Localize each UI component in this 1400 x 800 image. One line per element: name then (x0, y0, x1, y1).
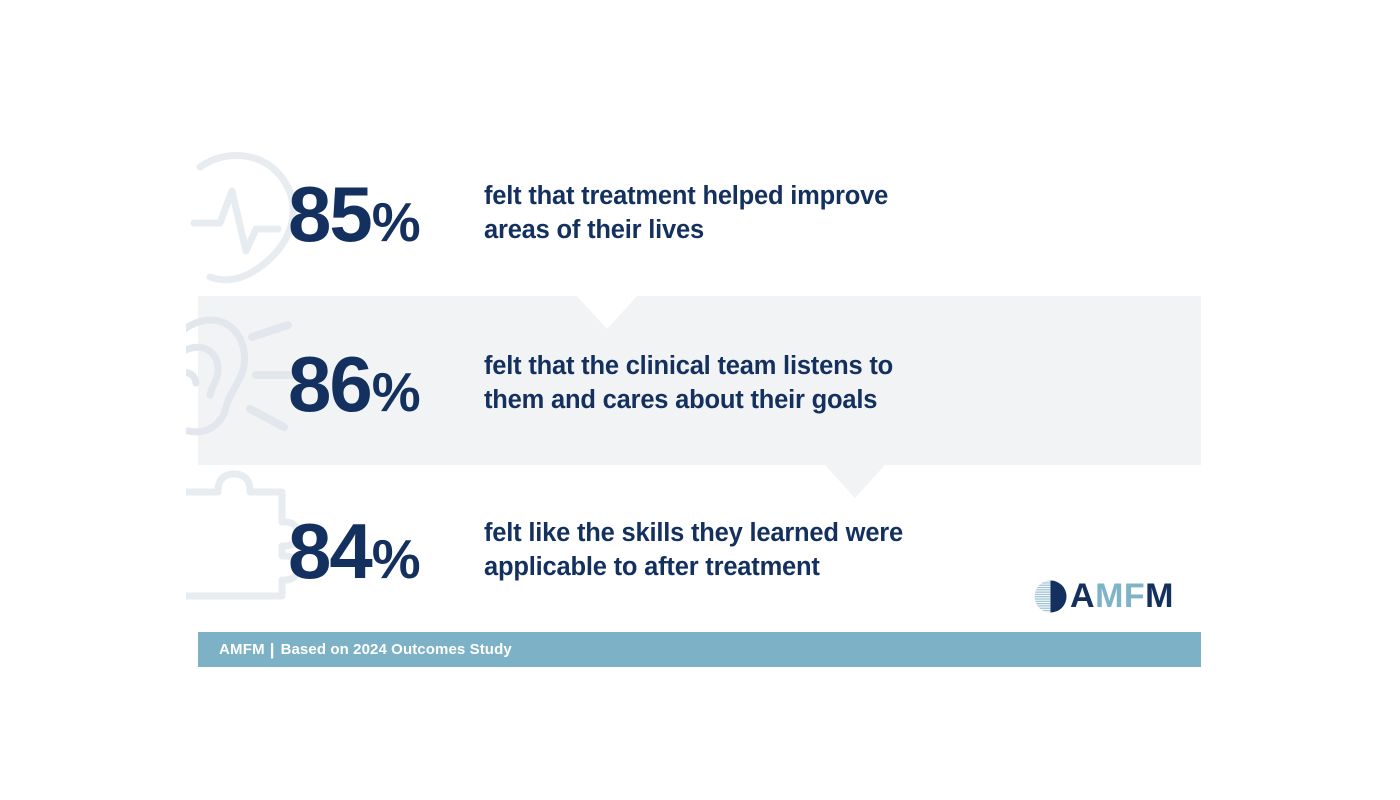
amfm-logo: AMFM (1034, 578, 1174, 614)
stat-row-2: 86% felt that the clinical team listens … (288, 338, 1118, 430)
footer-source-note: Based on 2024 Outcomes Study (281, 641, 512, 658)
logo-letter-f: F (1124, 577, 1145, 615)
stat-description-2: felt that the clinical team listens to t… (484, 350, 893, 417)
logo-letter-m2: M (1145, 577, 1174, 615)
percent-symbol-3: % (372, 532, 419, 587)
stat-value-1: 85% (288, 175, 484, 253)
stat-description-3: felt like the skills they learned were a… (484, 517, 903, 584)
infographic-slide: 85% felt that treatment helped improve a… (0, 0, 1400, 800)
logo-letter-m1: M (1095, 577, 1124, 615)
stat-value-3: 84% (288, 512, 484, 590)
stat-number-2: 86 (288, 345, 371, 423)
stat-number-1: 85 (288, 175, 371, 253)
stat-description-1: felt that treatment helped improve areas… (484, 180, 888, 247)
amfm-wordmark: AMFM (1070, 579, 1174, 613)
band-bottom-notch (825, 465, 885, 498)
source-footer-bar: AMFM | Based on 2024 Outcomes Study (198, 632, 1201, 667)
stat-value-2: 86% (288, 345, 484, 423)
footer-brand-label: AMFM (219, 641, 265, 658)
stat-row-1: 85% felt that treatment helped improve a… (288, 168, 1118, 260)
percent-symbol-1: % (372, 195, 419, 250)
footer-separator: | (270, 640, 275, 660)
striped-half-circle-icon (1034, 580, 1067, 613)
stat-number-3: 84 (288, 512, 371, 590)
band-top-notch (577, 296, 637, 329)
logo-letter-a: A (1070, 577, 1095, 615)
stat-row-3: 84% felt like the skills they learned we… (288, 505, 1118, 597)
percent-symbol-2: % (372, 365, 419, 420)
